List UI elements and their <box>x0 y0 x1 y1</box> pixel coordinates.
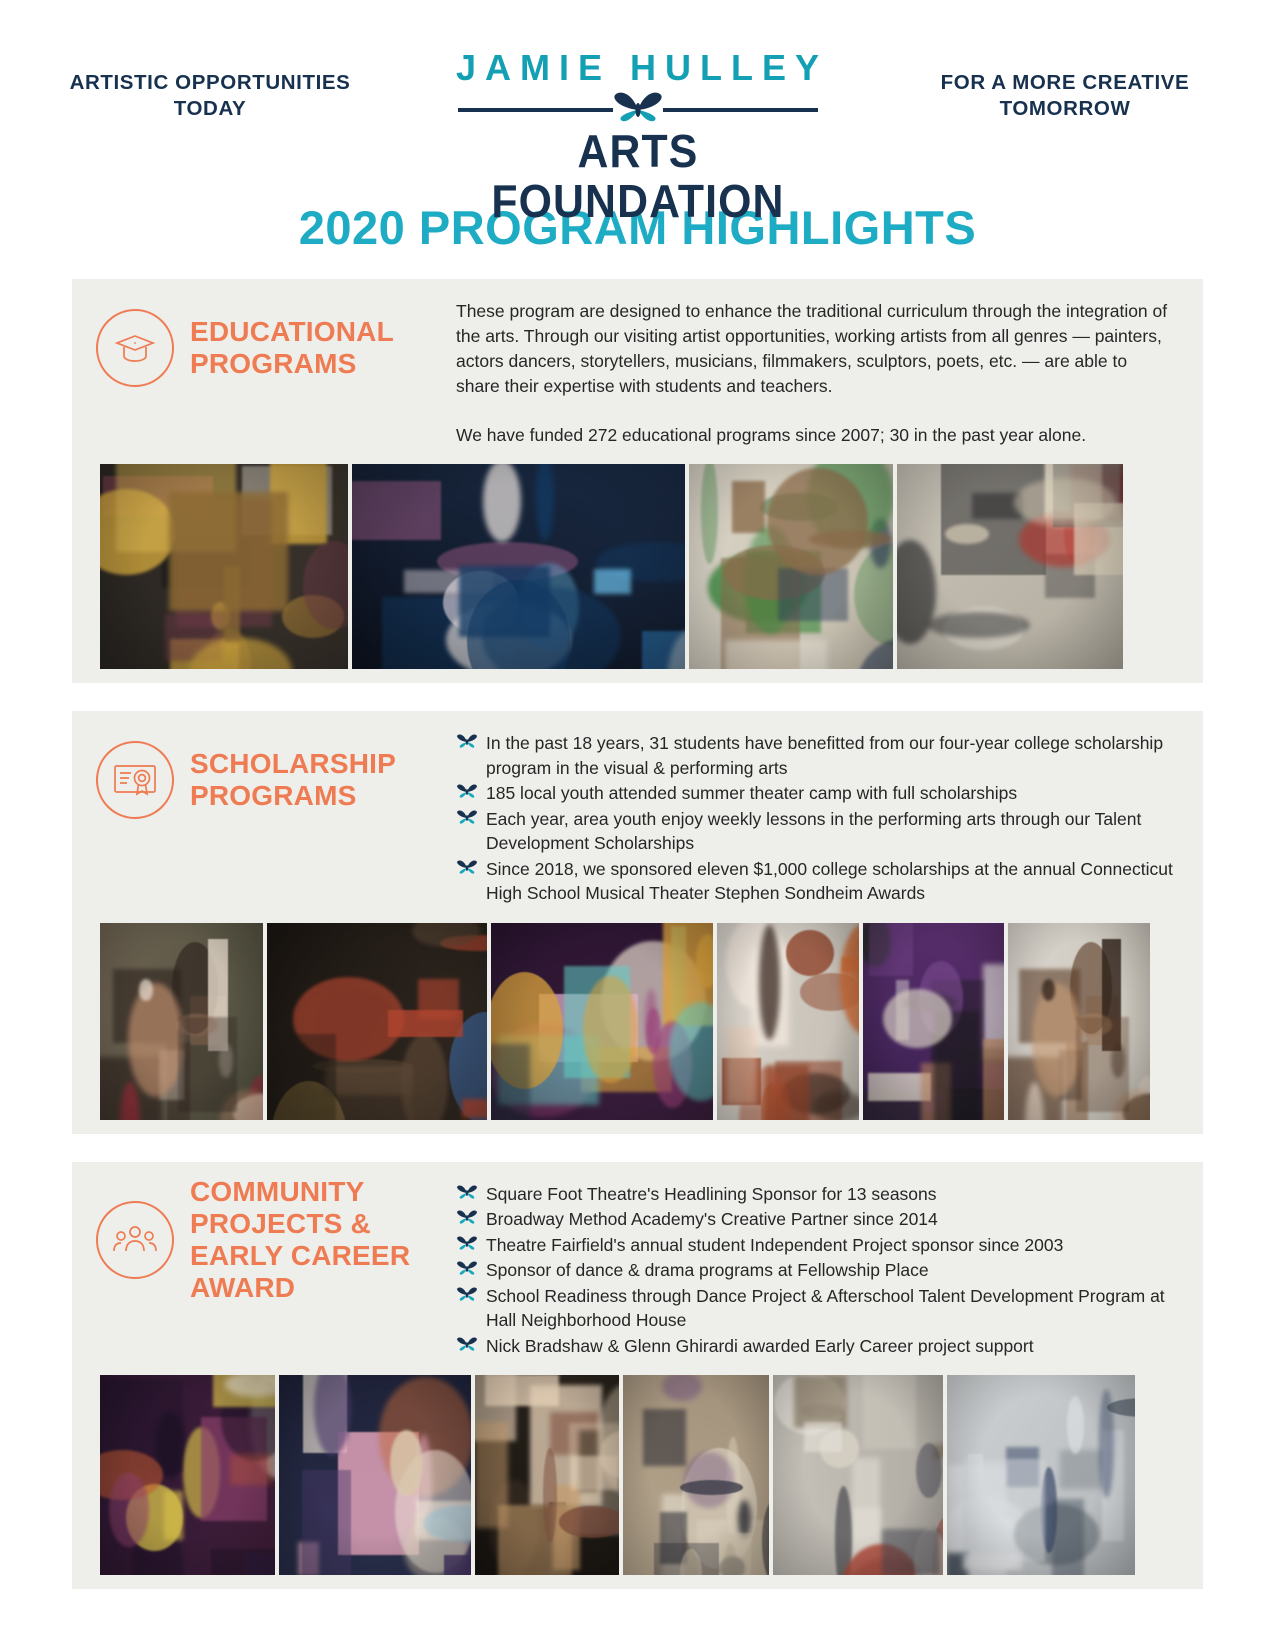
tagline-right: FOR A MORE CREATIVE TOMORROW <box>915 70 1215 122</box>
logo-divider <box>428 90 848 126</box>
photo-thumbnail <box>100 464 348 669</box>
section-title: SCHOLARSHIP PROGRAMS <box>190 748 456 812</box>
certificate-award-icon <box>96 741 174 819</box>
section-body: In the past 18 years, 31 students have b… <box>456 725 1175 907</box>
photo-thumbnail <box>100 923 263 1120</box>
photo-thumbnail <box>897 464 1123 669</box>
photo-thumbnail <box>947 1375 1135 1575</box>
bullet-item: School Readiness through Dance Project &… <box>456 1284 1175 1333</box>
bullet-text: Square Foot Theatre's Headlining Sponsor… <box>486 1184 937 1204</box>
bullet-item: Nick Bradshaw & Glenn Ghirardi awarded E… <box>456 1334 1175 1359</box>
page-header: ARTISTIC OPPORTUNITIES TODAY JAMIE HULLE… <box>0 0 1275 190</box>
bullet-text: Sponsor of dance & drama programs at Fel… <box>486 1260 929 1280</box>
body-paragraph: These program are designed to enhance th… <box>456 299 1175 399</box>
bullet-text: 185 local youth attended summer theater … <box>486 783 1017 803</box>
section-heading: EDUCATIONAL PROGRAMS <box>96 293 456 403</box>
bullet-item: Theatre Fairfield's annual student Indep… <box>456 1233 1175 1258</box>
photo-strip <box>72 464 1203 669</box>
body-paragraph: We have funded 272 educational programs … <box>456 423 1175 448</box>
section-header-row: COMMUNITY PROJECTS & EARLY CAREER AWARD … <box>72 1176 1203 1360</box>
tagline-left: ARTISTIC OPPORTUNITIES TODAY <box>60 70 360 122</box>
bullet-list: Square Foot Theatre's Headlining Sponsor… <box>456 1182 1175 1359</box>
section-header-row: EDUCATIONAL PROGRAMSThese program are de… <box>72 293 1203 448</box>
section-title: COMMUNITY PROJECTS & EARLY CAREER AWARD <box>190 1176 456 1304</box>
bullet-item: Sponsor of dance & drama programs at Fel… <box>456 1258 1175 1283</box>
bullet-text: Broadway Method Academy's Creative Partn… <box>486 1209 938 1229</box>
section-header-row: SCHOLARSHIP PROGRAMS In the past 18 year… <box>72 725 1203 907</box>
logo-rule-right <box>663 108 818 112</box>
photo-thumbnail <box>863 923 1004 1120</box>
bullet-text: Theatre Fairfield's annual student Indep… <box>486 1235 1063 1255</box>
photo-thumbnail <box>267 923 487 1120</box>
photo-thumbnail <box>475 1375 619 1575</box>
bullet-item: Broadway Method Academy's Creative Partn… <box>456 1207 1175 1232</box>
section-heading: COMMUNITY PROJECTS & EARLY CAREER AWARD <box>96 1176 456 1304</box>
section-body: These program are designed to enhance th… <box>456 293 1175 448</box>
butterfly-bullet-icon <box>456 1336 478 1355</box>
photo-thumbnail <box>773 1375 943 1575</box>
photo-thumbnail <box>623 1375 769 1575</box>
photo-strip <box>72 923 1203 1120</box>
bullet-text: In the past 18 years, 31 students have b… <box>486 733 1163 778</box>
photo-thumbnail <box>689 464 893 669</box>
section-body: Square Foot Theatre's Headlining Sponsor… <box>456 1176 1175 1360</box>
logo-bottom-text: ARTS FOUNDATION <box>442 126 833 226</box>
bullet-item: Each year, area youth enjoy weekly lesso… <box>456 807 1175 856</box>
butterfly-bullet-icon <box>456 1286 478 1305</box>
photo-thumbnail <box>352 464 685 669</box>
logo-rule-left <box>458 108 613 112</box>
sections-container: EDUCATIONAL PROGRAMSThese program are de… <box>0 279 1275 1589</box>
butterfly-bullet-icon <box>456 1184 478 1203</box>
bullet-item: In the past 18 years, 31 students have b… <box>456 731 1175 780</box>
bullet-list: In the past 18 years, 31 students have b… <box>456 731 1175 906</box>
photo-thumbnail <box>100 1375 275 1575</box>
butterfly-bullet-icon <box>456 1260 478 1279</box>
bullet-item: 185 local youth attended summer theater … <box>456 781 1175 806</box>
butterfly-bullet-icon <box>456 809 478 828</box>
photo-thumbnail <box>717 923 859 1120</box>
photo-strip <box>72 1375 1203 1575</box>
section-heading: SCHOLARSHIP PROGRAMS <box>96 725 456 835</box>
bullet-text: School Readiness through Dance Project &… <box>486 1286 1165 1331</box>
butterfly-bullet-icon <box>456 733 478 752</box>
photo-thumbnail <box>1008 923 1150 1120</box>
butterfly-bullet-icon <box>456 1235 478 1254</box>
section-panel-scholarship: SCHOLARSHIP PROGRAMS In the past 18 year… <box>72 711 1203 1134</box>
butterfly-bullet-icon <box>456 783 478 802</box>
photo-thumbnail <box>279 1375 471 1575</box>
logo-top-text: JAMIE HULLEY <box>428 48 848 88</box>
section-panel-educational: EDUCATIONAL PROGRAMSThese program are de… <box>72 279 1203 683</box>
bullet-text: Nick Bradshaw & Glenn Ghirardi awarded E… <box>486 1336 1034 1356</box>
foundation-logo: JAMIE HULLEY ARTS FOUNDATION <box>428 48 848 226</box>
section-panel-community: COMMUNITY PROJECTS & EARLY CAREER AWARD … <box>72 1162 1203 1590</box>
bullet-item: Since 2018, we sponsored eleven $1,000 c… <box>456 857 1175 906</box>
photo-thumbnail <box>491 923 713 1120</box>
section-title: EDUCATIONAL PROGRAMS <box>190 316 456 380</box>
bullet-item: Square Foot Theatre's Headlining Sponsor… <box>456 1182 1175 1207</box>
bullet-text: Each year, area youth enjoy weekly lesso… <box>486 809 1141 854</box>
butterfly-bullet-icon <box>456 1209 478 1228</box>
bullet-text: Since 2018, we sponsored eleven $1,000 c… <box>486 859 1173 904</box>
butterfly-bullet-icon <box>456 859 478 878</box>
people-group-icon <box>96 1201 174 1279</box>
graduation-cap-icon <box>96 309 174 387</box>
